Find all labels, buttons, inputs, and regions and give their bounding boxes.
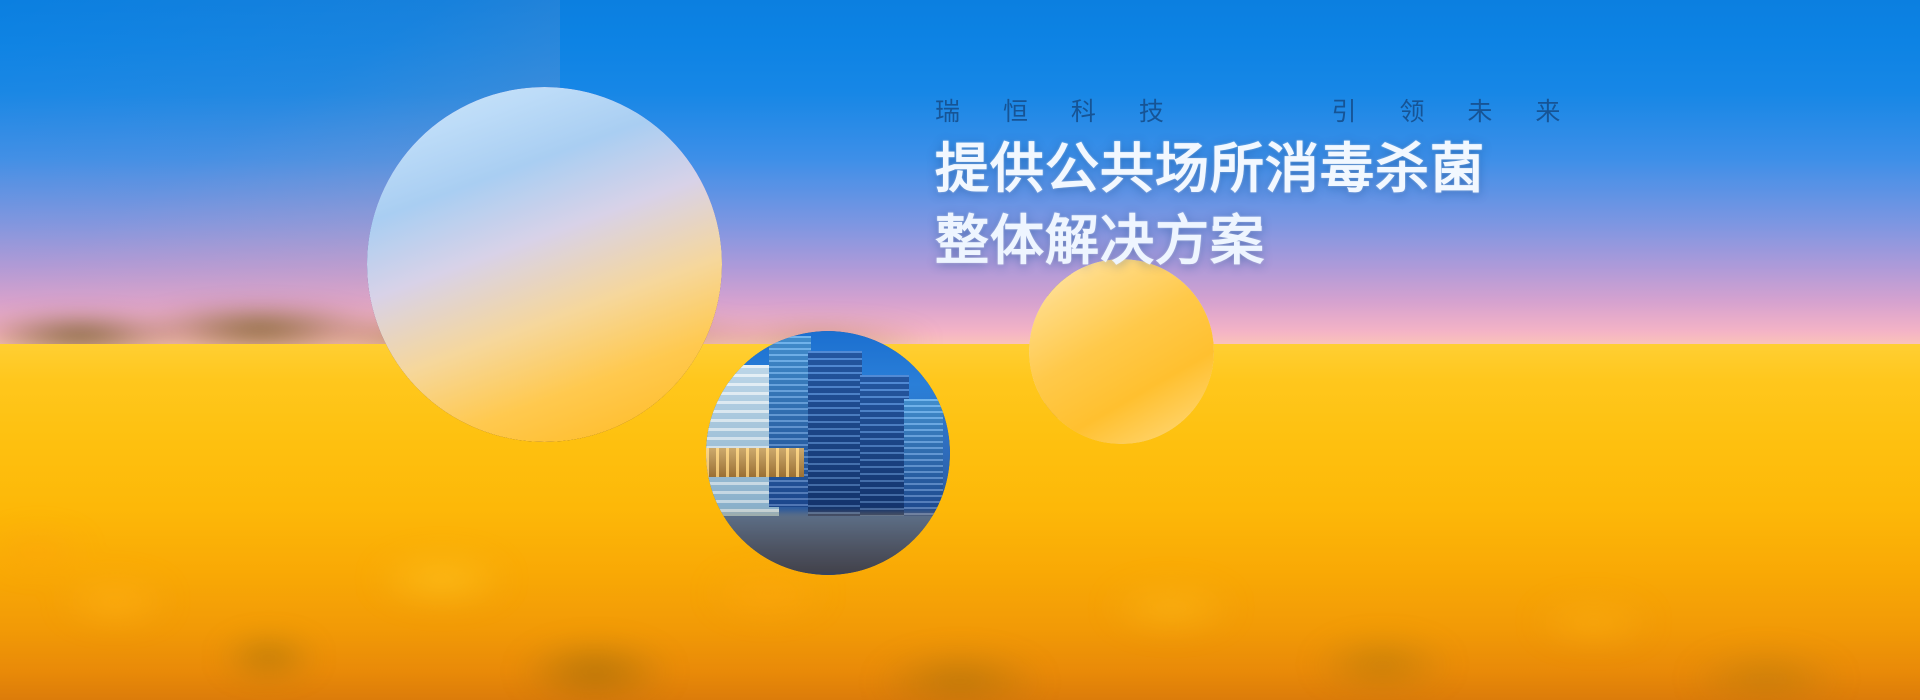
buildings-photo [706, 331, 950, 575]
building-glass-tower [808, 351, 862, 517]
nurse-seated [1040, 366, 1057, 403]
hospital-sign [1040, 274, 1114, 296]
building-glass-teal [769, 336, 810, 507]
headline-line-2: 整体解决方案 [935, 210, 1655, 272]
hospital-scene [1029, 259, 1214, 444]
nurse-head-icon [1138, 324, 1149, 341]
hospital-photo [1029, 259, 1214, 444]
headline-text-block: 瑞 恒 科 技 引 领 未 来 提供公共场所消毒杀菌 整体解决方案 [935, 96, 1655, 272]
hero-banner: 瑞 恒 科 技 引 领 未 来 提供公共场所消毒杀菌 整体解决方案 [0, 0, 1920, 700]
photo-circle-buildings[interactable] [706, 331, 950, 575]
photo-circle-nightclub[interactable] [367, 87, 722, 442]
headline-line-1: 提供公共场所消毒杀菌 [935, 138, 1655, 200]
nurse-head-icon [1189, 327, 1198, 343]
nightclub-photo [367, 87, 722, 442]
street-motion-blur [706, 512, 950, 575]
nurse-head-icon [1065, 328, 1077, 346]
building-far-right [904, 399, 943, 516]
photo-circle-hospital[interactable] [1029, 259, 1214, 444]
led-wall-texture [381, 208, 551, 286]
nurse-head-icon [1169, 330, 1178, 345]
nightclub-scene [367, 87, 722, 442]
building-glass-right [860, 375, 909, 517]
nurse-corridor-far [1186, 342, 1201, 388]
nurse-standing-left [1060, 344, 1080, 396]
building-podium-canopy [706, 448, 804, 477]
medical-cart [1133, 381, 1155, 405]
rapeseed-field-background [0, 344, 1920, 700]
brand-slogan-eyebrow: 瑞 恒 科 技 引 领 未 来 [935, 96, 1655, 128]
nurse-corridor-mid [1166, 344, 1181, 388]
city-buildings-scene [706, 331, 950, 575]
nurse-head-icon [1043, 354, 1053, 367]
